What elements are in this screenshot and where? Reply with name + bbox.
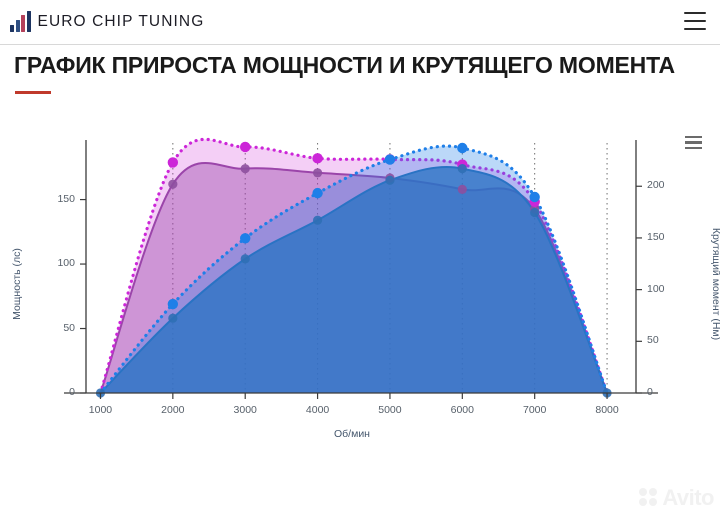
title-block: ГРАФИК ПРИРОСТА МОЩНОСТИ И КРУТЯЩЕГО МОМ…	[0, 52, 720, 94]
title-accent-rule	[15, 91, 51, 94]
axis-tick-label: 6000	[451, 404, 474, 416]
axis-tick-label: 0	[647, 386, 653, 398]
chart-plot-area: Мощность (лс) Крутящий момент (Нм) Об/ми…	[0, 118, 720, 448]
axis-tick-label: 50	[647, 334, 659, 346]
avito-watermark: Avito	[639, 485, 714, 511]
axis-tick-label: 1000	[89, 404, 112, 416]
watermark-text: Avito	[662, 485, 714, 511]
avito-logo-icon	[639, 488, 659, 508]
page-title: ГРАФИК ПРИРОСТА МОЩНОСТИ И КРУТЯЩЕГО МОМ…	[14, 52, 720, 79]
y-axis-right-title: Крутящий момент (Нм)	[710, 219, 720, 349]
brand-name: EURO CHIP TUNING	[38, 13, 205, 31]
axis-tick-label: 8000	[595, 404, 618, 416]
axis-tick-label: 3000	[234, 404, 257, 416]
axis-tick-label: 0	[69, 386, 75, 398]
axis-tick-label: 50	[63, 322, 75, 334]
site-header: EURO CHIP TUNING	[0, 0, 720, 45]
axis-tick-label: 200	[647, 179, 665, 191]
axis-tick-label: 100	[57, 257, 75, 269]
dyno-chart	[0, 118, 720, 448]
chart-card: Мощность (лс) Крутящий момент (Нм) Об/ми…	[0, 118, 720, 517]
axis-tick-label: 150	[57, 193, 75, 205]
x-axis-title: Об/мин	[334, 428, 370, 440]
page-root: EURO CHIP TUNING ГРАФИК ПРИРОСТА МОЩНОСТ…	[0, 0, 720, 517]
axis-tick-label: 4000	[306, 404, 329, 416]
axis-tick-label: 7000	[523, 404, 546, 416]
x-axis-title-wrap: Об/мин	[0, 428, 720, 440]
bar-chart-logo-icon	[10, 12, 31, 32]
brand-logo[interactable]: EURO CHIP TUNING	[10, 12, 204, 32]
axis-tick-label: 2000	[161, 404, 184, 416]
hamburger-menu-icon[interactable]	[684, 12, 706, 30]
y-axis-left-title: Мощность (лс)	[11, 224, 23, 344]
axis-tick-label: 100	[647, 283, 665, 295]
axis-tick-label: 150	[647, 231, 665, 243]
axis-tick-label: 5000	[378, 404, 401, 416]
